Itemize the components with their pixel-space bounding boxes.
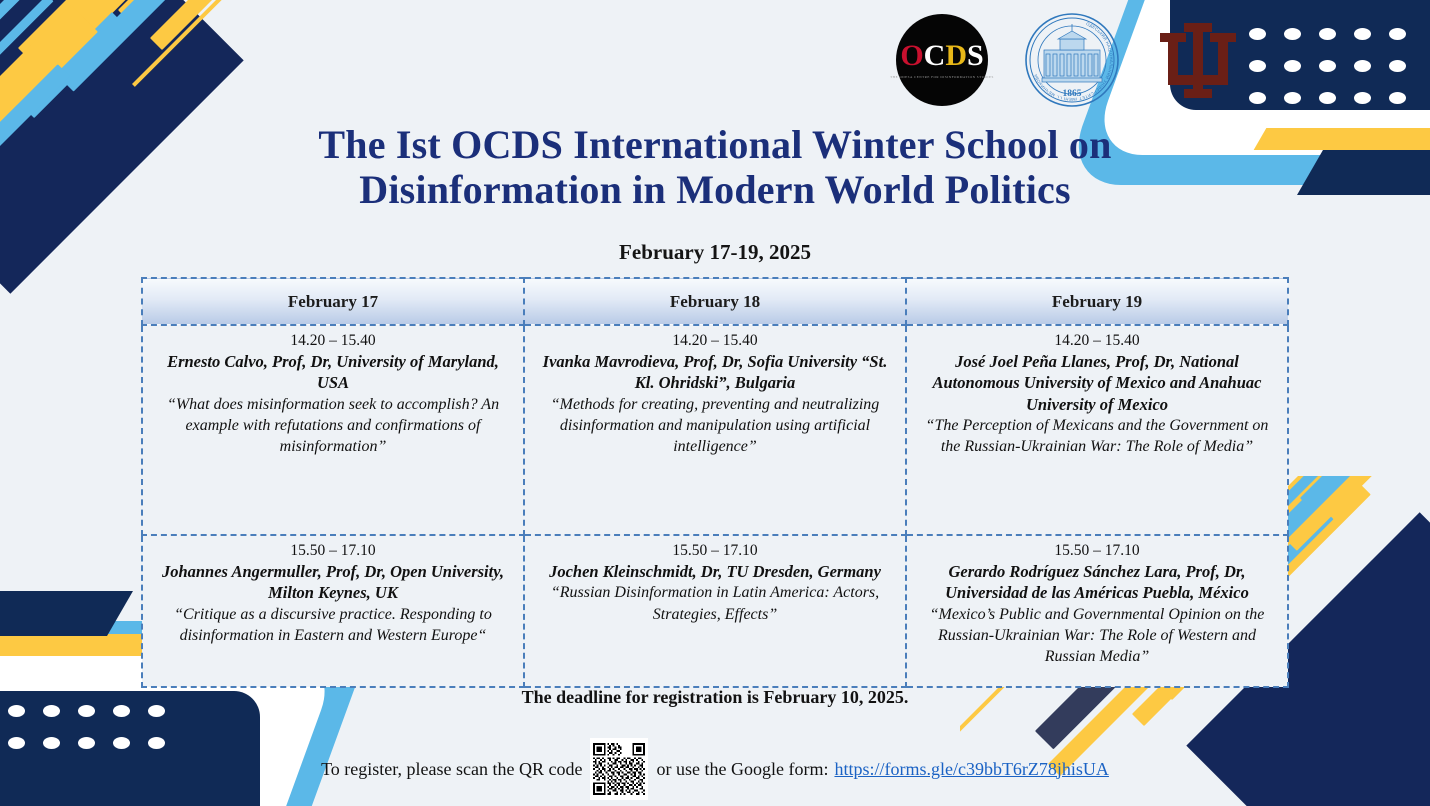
poster-content: The Ist OCDS International Winter School… xyxy=(0,0,1430,806)
register-instruction-before: To register, please scan the QR code xyxy=(321,759,582,780)
session-cell: 14.20 – 15.40 Ivanka Mavrodieva, Prof, D… xyxy=(524,325,906,535)
column-header-feb-18: February 18 xyxy=(524,278,906,325)
session-topic: “Critique as a discursive practice. Resp… xyxy=(152,604,514,646)
page-title: The Ist OCDS International Winter School… xyxy=(0,123,1430,213)
session-topic: “The Perception of Mexicans and the Gove… xyxy=(916,415,1278,457)
table-header-row: February 17 February 18 February 19 xyxy=(142,278,1288,325)
session-topic: “Russian Disinformation in Latin America… xyxy=(534,582,896,624)
session-time: 15.50 – 17.10 xyxy=(152,542,514,560)
session-cell: 15.50 – 17.10 Johannes Angermuller, Prof… xyxy=(142,535,524,687)
session-speaker: Gerardo Rodríguez Sánchez Lara, Prof, Dr… xyxy=(916,561,1278,604)
column-header-feb-17: February 17 xyxy=(142,278,524,325)
ocds-wordmark: OCDS xyxy=(900,41,983,71)
session-time: 14.20 – 15.40 xyxy=(152,332,514,350)
title-line-1: The Ist OCDS International Winter School… xyxy=(0,123,1430,168)
session-time: 14.20 – 15.40 xyxy=(916,332,1278,350)
schedule-table: February 17 February 18 February 19 14.2… xyxy=(141,277,1289,688)
session-cell: 15.50 – 17.10 Jochen Kleinschmidt, Dr, T… xyxy=(524,535,906,687)
logo-row: OCDS THE ODESA CENTRE FOR DISINFORMATION… xyxy=(896,10,1240,110)
ocds-logo: OCDS THE ODESA CENTRE FOR DISINFORMATION… xyxy=(896,14,988,106)
table-row: 14.20 – 15.40 Ernesto Calvo, Prof, Dr, U… xyxy=(142,325,1288,535)
event-dates: February 17-19, 2025 xyxy=(0,240,1430,265)
svg-text:1865: 1865 xyxy=(1063,89,1082,99)
session-topic: “What does misinformation seek to accomp… xyxy=(152,394,514,457)
table-row: 15.50 – 17.10 Johannes Angermuller, Prof… xyxy=(142,535,1288,687)
session-speaker: Ivanka Mavrodieva, Prof, Dr, Sofia Unive… xyxy=(534,351,896,394)
session-topic: “Mexico’s Public and Governmental Opinio… xyxy=(916,604,1278,667)
odesa-national-university-seal-logo: ОДЕСЬКИЙ НАЦІОНАЛЬНИЙ УНІВЕРСИТЕТ ІМЕНІ … xyxy=(1022,10,1122,110)
session-speaker: José Joel Peña Llanes, Prof, Dr, Nationa… xyxy=(916,351,1278,415)
session-time: 14.20 – 15.40 xyxy=(534,332,896,350)
registration-deadline: The deadline for registration is Februar… xyxy=(0,687,1430,708)
session-speaker: Ernesto Calvo, Prof, Dr, University of M… xyxy=(152,351,514,394)
session-cell: 14.20 – 15.40 Ernesto Calvo, Prof, Dr, U… xyxy=(142,325,524,535)
column-header-feb-19: February 19 xyxy=(906,278,1288,325)
session-cell: 15.50 – 17.10 Gerardo Rodríguez Sánchez … xyxy=(906,535,1288,687)
google-form-link[interactable]: https://forms.gle/c39bbT6rZ78jhisUA xyxy=(834,759,1108,780)
session-speaker: Johannes Angermuller, Prof, Dr, Open Uni… xyxy=(152,561,514,604)
session-cell: 14.20 – 15.40 José Joel Peña Llanes, Pro… xyxy=(906,325,1288,535)
session-speaker: Jochen Kleinschmidt, Dr, TU Dresden, Ger… xyxy=(534,561,896,582)
indiana-university-logo xyxy=(1156,15,1240,105)
session-time: 15.50 – 17.10 xyxy=(534,542,896,560)
session-topic: “Methods for creating, preventing and ne… xyxy=(534,394,896,457)
registration-line: To register, please scan the QR code xyxy=(0,738,1430,800)
ocds-subtitle: THE ODESA CENTRE FOR DISINFORMATION STUD… xyxy=(890,75,994,79)
session-time: 15.50 – 17.10 xyxy=(916,542,1278,560)
poster-canvas: OCDS THE ODESA CENTRE FOR DISINFORMATION… xyxy=(0,0,1430,806)
register-instruction-after: or use the Google form: xyxy=(656,759,828,780)
title-line-2: Disinformation in Modern World Politics xyxy=(0,168,1430,213)
qr-code xyxy=(590,738,648,800)
